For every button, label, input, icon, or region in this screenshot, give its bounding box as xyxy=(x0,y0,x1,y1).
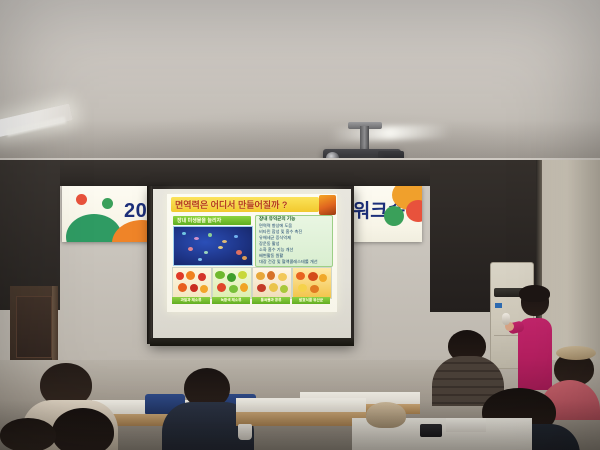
lecture-hall-photo: 2021 시 작 워크숍 면역력은 어디서 만들어질까 ? 장내 미생물을 늘리… xyxy=(0,0,600,450)
caption-text: 녹황색 채소류 xyxy=(212,297,250,304)
microphone-icon xyxy=(502,313,510,325)
slide-section-label: 장내 미생물을 늘리자 xyxy=(177,217,221,224)
projection-screen: 면역력은 어디서 만들어질까 ? 장내 미생물을 늘리자 20-25%, 60%… xyxy=(150,186,354,344)
food-photo-tomato xyxy=(172,267,212,299)
screen-bottom-bar xyxy=(150,338,354,346)
caption-text: 통곡물과 콩류 xyxy=(252,297,290,304)
attendee-front-left xyxy=(52,408,114,450)
smartphone[interactable] xyxy=(420,424,442,437)
food-photo-caption: 녹황색 채소류 xyxy=(212,297,250,304)
caption-text: 과일과 채소류 xyxy=(172,297,210,304)
table-foreground-left-edge xyxy=(236,412,366,426)
banner-right-green-blob xyxy=(384,206,404,226)
food-photo-caption: 통곡물과 콩류 xyxy=(252,297,290,304)
food-photo-caption: 발효식품 유산균 xyxy=(292,297,330,304)
paper-cup[interactable] xyxy=(238,424,252,440)
banner-right-red-blob xyxy=(406,200,422,222)
slide-photo-strip: 과일과 채소류 녹황색 채소류 xyxy=(172,267,332,307)
fur-scarf xyxy=(366,402,406,428)
screen-left-edge xyxy=(147,186,152,344)
presentation-slide: 면역력은 어디서 만들어질까 ? 장내 미생물을 늘리자 20-25%, 60%… xyxy=(167,194,337,312)
gut-microbiome-illustration: 20-25%, 60%, 75% xyxy=(173,226,253,266)
food-photo-fermented xyxy=(292,267,332,299)
door-panel xyxy=(16,296,52,358)
hair-bow xyxy=(556,346,596,360)
food-photo-grains xyxy=(252,267,292,299)
banner-logo-dot-green xyxy=(102,198,113,209)
slide-bullet-heading: 장내 유익균의 기능 xyxy=(259,216,295,222)
banner-logo-dot-red xyxy=(76,194,87,205)
presenter-hair-front xyxy=(519,285,550,302)
slide-corner-decoration xyxy=(319,195,336,215)
caption-text: 발효식품 유산균 xyxy=(292,297,330,304)
slide-title: 면역력은 어디서 만들어질까 ? xyxy=(175,198,287,211)
air-conditioner-badge xyxy=(495,303,502,308)
food-photo-caption: 과일과 채소류 xyxy=(172,297,210,304)
slide-bullet-item: 대장 건강 및 혈액콜레스테롤 개선 xyxy=(259,259,318,265)
notebook[interactable] xyxy=(446,418,486,432)
food-photo-vegetables xyxy=(212,267,252,299)
door-frame-edge xyxy=(52,286,58,366)
attendee-far-left xyxy=(0,418,56,450)
